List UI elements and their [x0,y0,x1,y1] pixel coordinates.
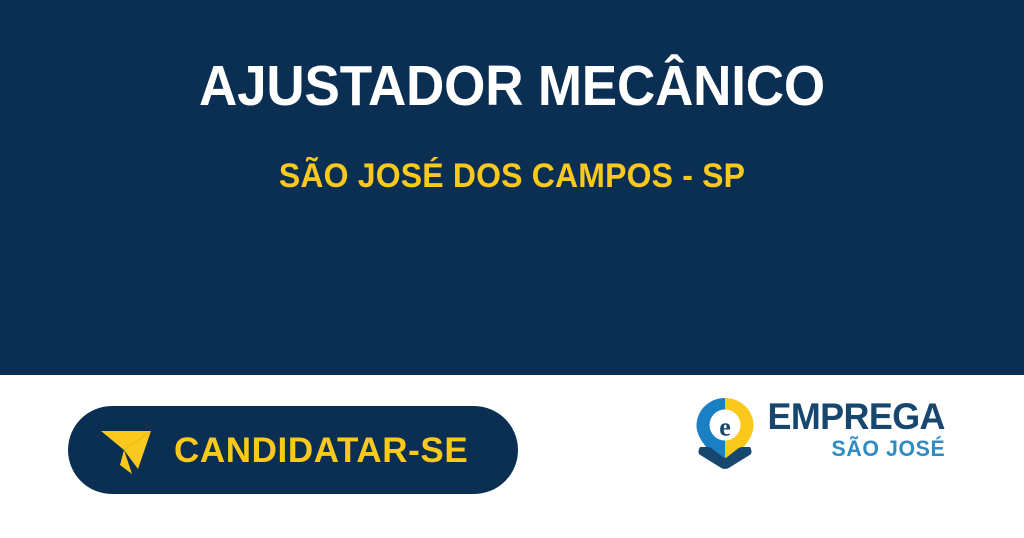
page-title: Ajustador Mecânico [73,56,951,116]
hero-section: Ajustador Mecânico São José dos Campos -… [0,0,1024,375]
paper-plane-icon [98,422,154,478]
job-location: São José dos Campos - SP [68,116,955,195]
brand-logo: e EMPREGA SÃO JOSÉ [694,393,934,477]
job-share-card: Ajustador Mecânico São José dos Campos -… [0,0,1024,538]
footer-bar: Candidatar-se e [0,375,1024,538]
map-pin-icon: e [694,393,756,469]
brand-wordmark: EMPREGA SÃO JOSÉ [762,393,945,460]
apply-button[interactable]: Candidatar-se [68,406,518,494]
apply-button-label: Candidatar-se [174,433,468,468]
svg-text:e: e [719,413,731,442]
brand-subtitle: SÃO JOSÉ [831,437,945,460]
brand-name: EMPREGA [767,399,944,435]
